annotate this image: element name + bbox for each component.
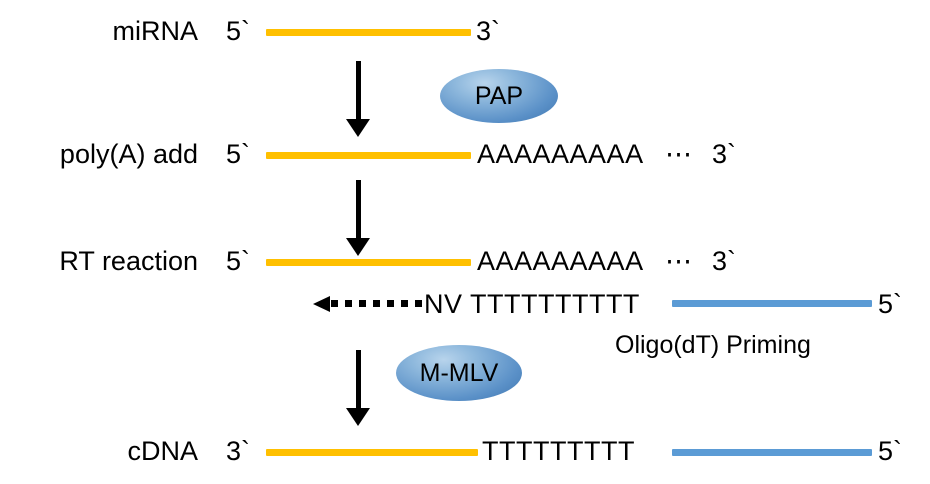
rt-rna-strand	[266, 259, 471, 266]
rt-a-sequence: AAAAAAAAA	[477, 245, 644, 277]
arrowhead-left-icon	[313, 296, 330, 312]
cdna-rna-strand	[266, 449, 478, 456]
polya-five-prime-label: 5`	[226, 138, 250, 170]
primer-five-prime-label: 5`	[878, 288, 902, 320]
polya-ellipsis: ⋯	[665, 138, 694, 170]
step-label-cdna: cDNA	[0, 435, 198, 467]
cdna-t-sequence: TTTTTTTTT	[482, 435, 635, 467]
polya-three-prime-label: 3`	[712, 138, 736, 170]
mirna-five-prime-label: 5`	[226, 15, 250, 47]
enzyme-m-mlv: M-MLV	[396, 345, 522, 401]
rt-five-prime-label: 5`	[226, 245, 250, 277]
polya-rna-strand	[266, 152, 471, 159]
reverse-transcription-direction-arrow	[313, 293, 423, 313]
process-arrow-cdna-synthesis	[345, 350, 371, 426]
polya-a-sequence: AAAAAAAAA	[477, 138, 644, 170]
diagram-canvas: miRNA 5` 3` PAP poly(A) add 5` AAAAAAAAA…	[0, 0, 930, 484]
cdna-five-prime-label: 5`	[878, 435, 902, 467]
mirna-three-prime-label: 3`	[476, 15, 500, 47]
step-label-mirna: miRNA	[0, 15, 198, 47]
cdna-dna-strand	[672, 449, 872, 456]
process-arrow-rt	[345, 180, 371, 256]
oligo-dt-priming-caption: Oligo(dT) Priming	[615, 330, 811, 360]
dotted-line	[331, 300, 423, 307]
mirna-rna-strand	[266, 29, 471, 36]
primer-dna-strand	[672, 300, 872, 307]
primer-anchor-nv: NV	[424, 288, 463, 320]
cdna-three-prime-label: 3`	[226, 435, 250, 467]
rt-ellipsis: ⋯	[665, 245, 694, 277]
process-arrow-polyadenylation	[345, 61, 371, 137]
step-label-rt: RT reaction	[0, 245, 198, 277]
rt-three-prime-label: 3`	[712, 245, 736, 277]
primer-t-sequence: TTTTTTTTTT	[470, 288, 640, 320]
enzyme-pap: PAP	[440, 69, 558, 123]
step-label-polya: poly(A) add	[0, 138, 198, 170]
